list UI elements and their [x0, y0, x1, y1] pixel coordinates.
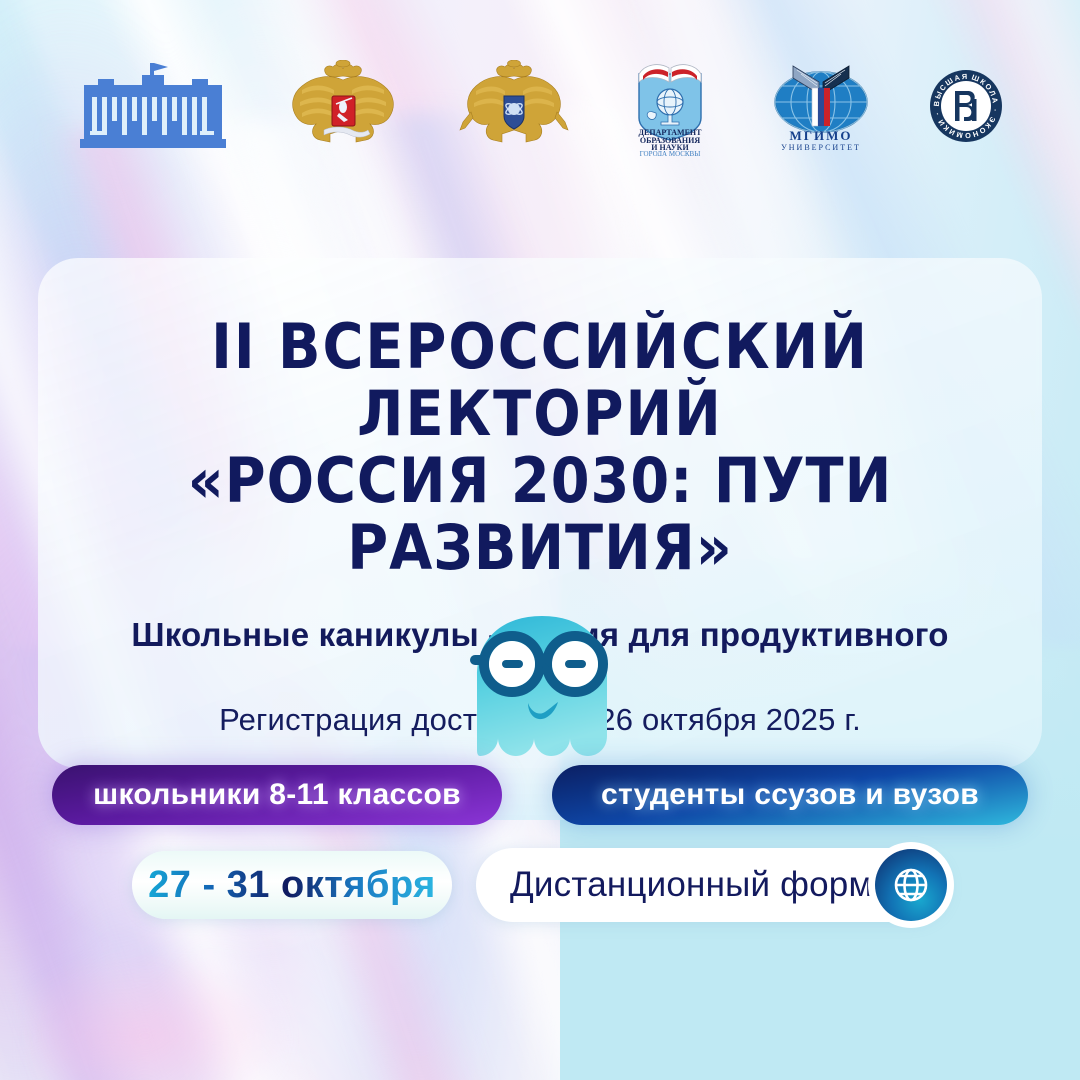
event-format-text: Дистанционный формат [510, 865, 908, 905]
poster-canvas: ДЕПАРТАМЕНТ ОБРАЗОВАНИЯ И НАУКИ ГОРОДА М… [0, 0, 1080, 1080]
logo-moscow-department-of-education: ДЕПАРТАМЕНТ ОБРАЗОВАНИЯ И НАУКИ ГОРОДА М… [627, 56, 713, 161]
logo-russian-federation-emblem [286, 60, 401, 157]
event-format-pill[interactable]: Дистанционный формат [476, 848, 948, 922]
event-dates-text: 27 - 31 октября [148, 864, 436, 907]
audience-pill-row: школьники 8-11 классов студенты ссузов и… [0, 765, 1080, 825]
mgimo-line2: УНИВЕРСИТЕТ [781, 143, 861, 152]
globe-icon-badge [868, 842, 954, 928]
partner-logo-bar: ДЕПАРТАМЕНТ ОБРАЗОВАНИЯ И НАУКИ ГОРОДА М… [0, 56, 1080, 161]
title-line-2: «РОССИЯ 2030: ПУТИ РАЗВИТИЯ» [78, 448, 1002, 582]
logo-ministry-of-education-emblem [459, 60, 569, 157]
audience-pill-schoolchildren[interactable]: школьники 8-11 классов [52, 765, 502, 825]
title-line-1: II ВСЕРОССИЙСКИЙ ЛЕКТОРИЙ [211, 310, 869, 450]
event-dates-pill[interactable]: 27 - 31 октября [132, 851, 452, 919]
logo-mgimo-university: МГИМО УНИВЕРСИТЕТ [771, 60, 871, 157]
page-title: II ВСЕРОССИЙСКИЙ ЛЕКТОРИЙ «РОССИЯ 2030: … [78, 314, 1002, 582]
logo-moscow-city-duma [78, 61, 228, 156]
logo-hse: ШКОЛА · ЭКОНОМИКИ · ВЫСШАЯ [929, 69, 1003, 148]
ghost-mascot-with-glasses [465, 608, 620, 773]
event-details-row: 27 - 31 октября Дистанционный формат [0, 848, 1080, 922]
mgimo-line1: МГИМО [789, 128, 852, 143]
globe-icon [875, 849, 947, 921]
audience-pill-students[interactable]: студенты ссузов и вузов [552, 765, 1028, 825]
dept-line4: ГОРОДА МОСКВЫ [639, 150, 700, 156]
